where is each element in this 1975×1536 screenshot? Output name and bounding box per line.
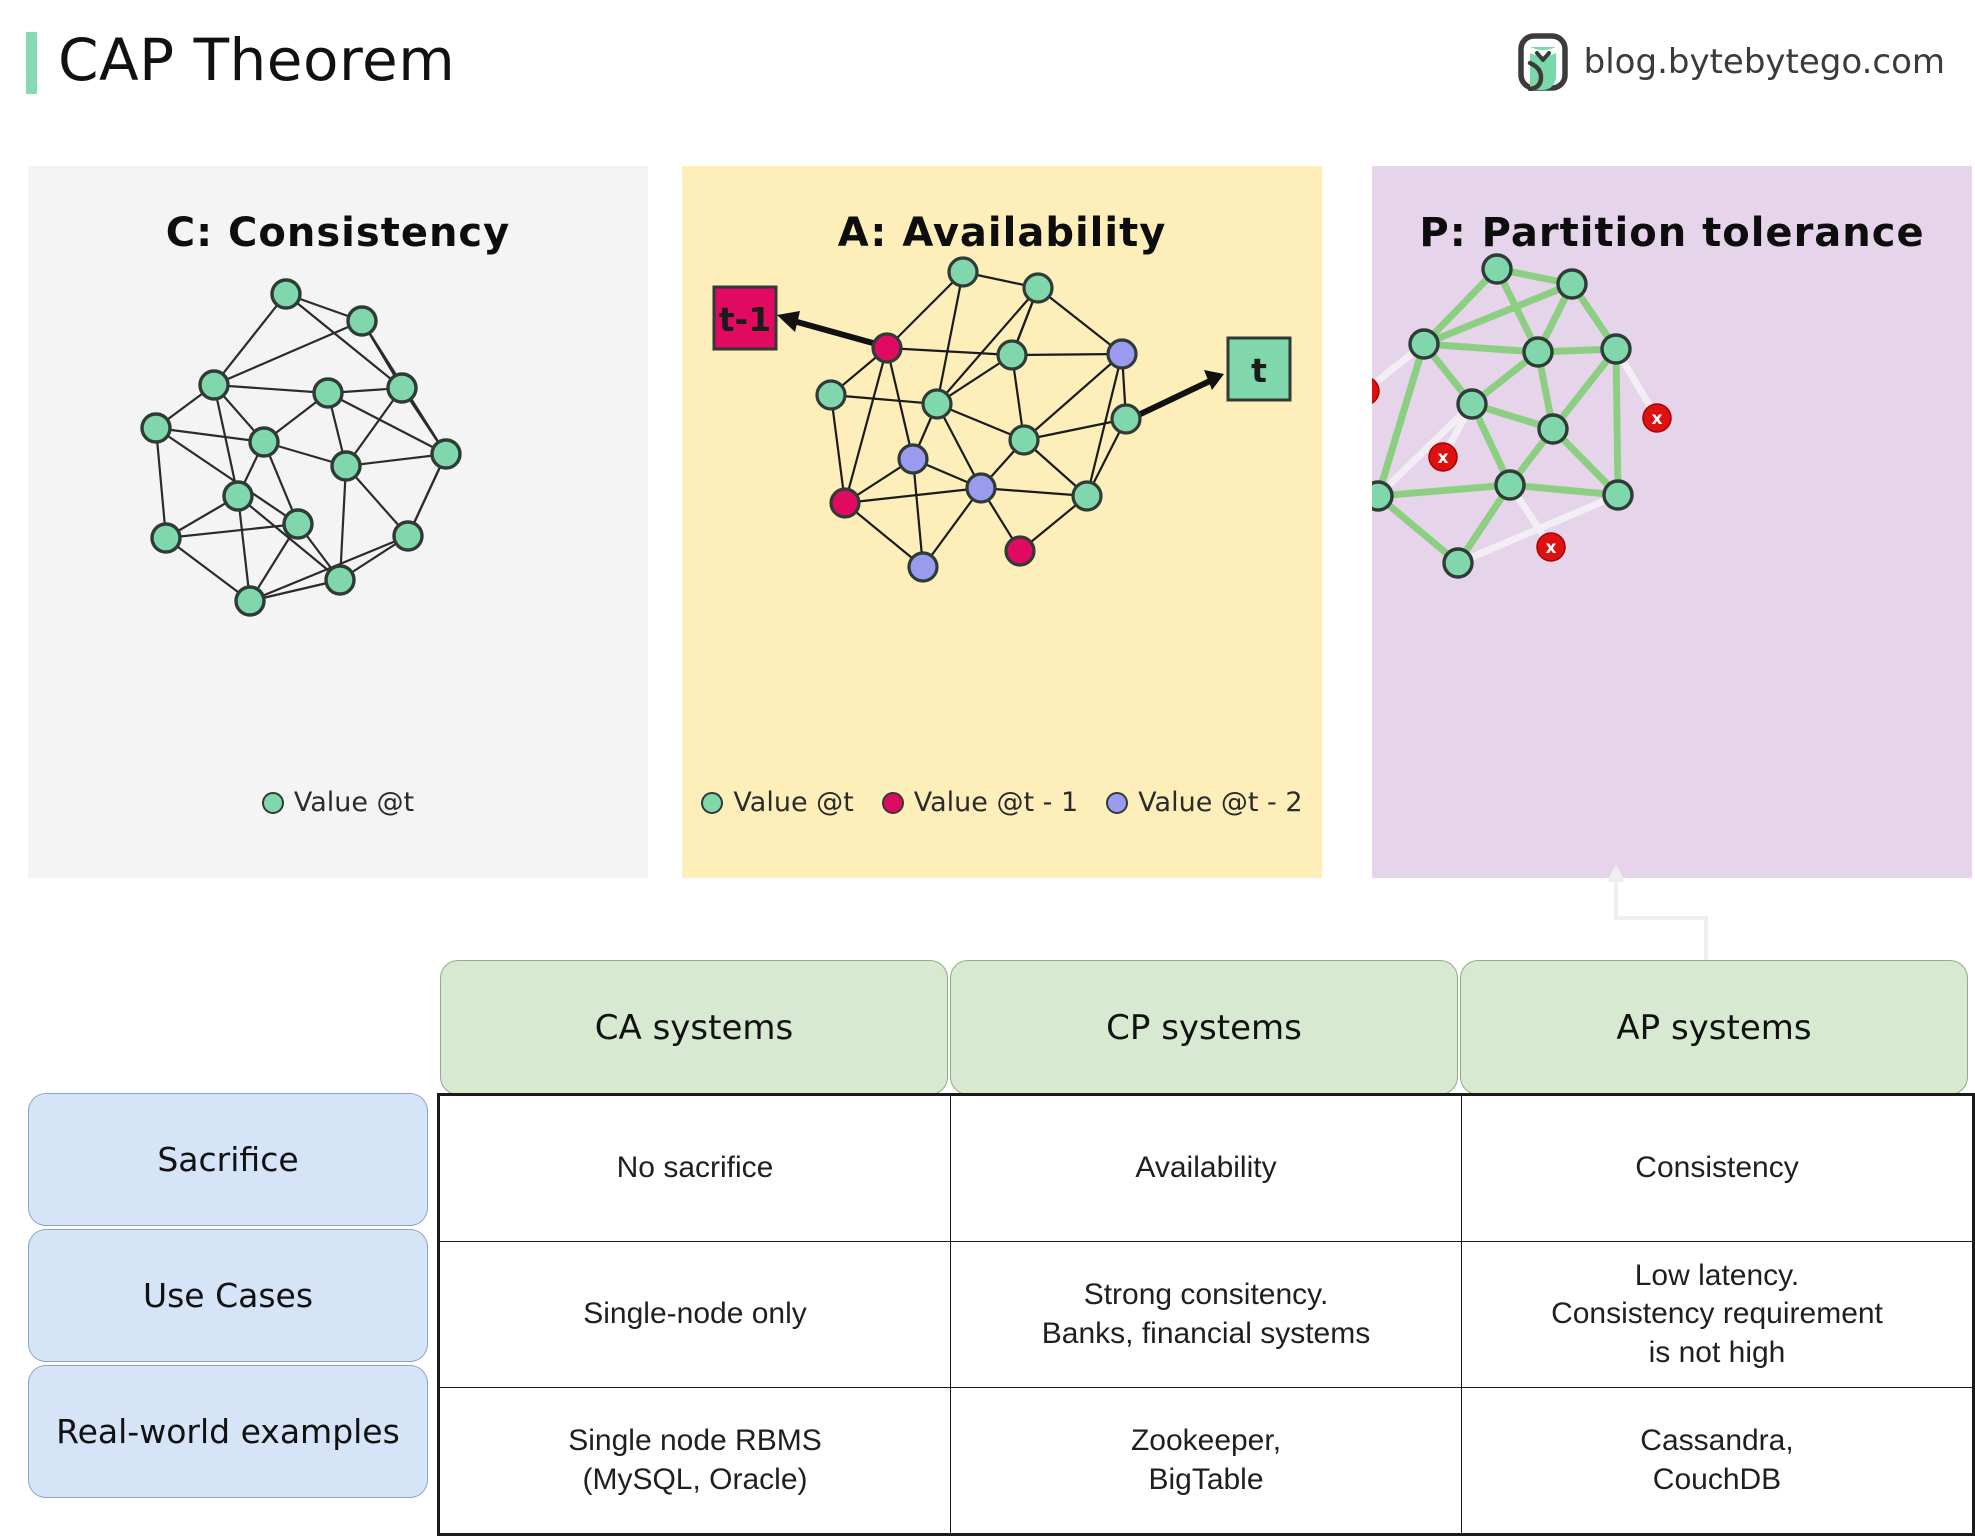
availability-network-graph: t-1t [682, 166, 1322, 878]
title-accent-bar [26, 32, 37, 94]
legend-label: Value @t - 1 [914, 787, 1078, 818]
table-column-headers: CA systems CP systems AP systems [440, 960, 1968, 1095]
brand[interactable]: blog.bytebytego.com [1518, 33, 1945, 91]
legend-label: Value @t [733, 787, 853, 818]
table-cell: No sacrifice [440, 1096, 951, 1242]
table-row: Single node RBMS(MySQL, Oracle) Zookeepe… [440, 1388, 1973, 1534]
legend-item: Value @t [262, 787, 414, 818]
legend-dot-value-at-t [701, 792, 723, 814]
legend-item: Value @t - 2 [1106, 787, 1302, 818]
table-grid: No sacrifice Availability Consistency Si… [437, 1093, 1975, 1536]
comparison-table: CA systems CP systems AP systems Sacrifi… [0, 940, 1975, 1460]
legend-item: Value @t - 1 [882, 787, 1078, 818]
partition-network-graph: xxxx [1372, 166, 1972, 878]
table-cell: Cassandra,CouchDB [1462, 1388, 1973, 1534]
column-header-cp-systems[interactable]: CP systems [950, 960, 1458, 1095]
row-label-real-world-examples[interactable]: Real-world examples [28, 1365, 428, 1498]
consistency-network-graph [28, 166, 648, 878]
table-row-labels: Sacrifice Use Cases Real-world examples [28, 1093, 428, 1498]
svg-text:t: t [1251, 351, 1267, 390]
fault-marker-icon: x [1537, 533, 1565, 561]
panel-consistency: C: Consistency Value @t [28, 166, 648, 878]
availability-legend: Value @t Value @t - 1 Value @t - 2 [682, 787, 1322, 818]
table-row: Single-node only Strong consitency.Banks… [440, 1242, 1973, 1388]
table-row: No sacrifice Availability Consistency [440, 1096, 1973, 1242]
cap-panels: C: Consistency Value @t A: Availability … [0, 166, 1975, 878]
table-cell: Strong consitency.Banks, financial syste… [951, 1242, 1462, 1388]
table-cell: Availability [951, 1096, 1462, 1242]
svg-text:x: x [1546, 538, 1557, 558]
page-header: CAP Theorem blog.bytebytego.com [0, 0, 1975, 118]
row-label-use-cases[interactable]: Use Cases [28, 1229, 428, 1362]
consistency-legend: Value @t [28, 787, 648, 818]
panel-availability: A: Availability t-1t Value @t Value @t -… [682, 166, 1322, 878]
table-cell: Zookeeper,BigTable [951, 1388, 1462, 1534]
legend-dot-value-at-t [262, 792, 284, 814]
brand-label: blog.bytebytego.com [1584, 42, 1945, 82]
panel-partition-tolerance: P: Partition tolerance xxxx [1372, 166, 1972, 878]
svg-text:x: x [1438, 448, 1449, 468]
bytebytego-logo-icon [1518, 33, 1568, 91]
legend-label: Value @t - 2 [1138, 787, 1302, 818]
fault-marker-icon: x [1429, 443, 1457, 471]
table-cell: Single-node only [440, 1242, 951, 1388]
table-cell: Single node RBMS(MySQL, Oracle) [440, 1388, 951, 1534]
svg-text:x: x [1652, 409, 1663, 429]
column-header-ap-systems[interactable]: AP systems [1460, 960, 1968, 1095]
fault-marker-icon: x [1643, 404, 1671, 432]
table-cell: Low latency.Consistency requirementis no… [1462, 1242, 1973, 1388]
legend-dot-value-at-t-minus-2 [1106, 792, 1128, 814]
svg-text:t-1: t-1 [719, 300, 771, 339]
legend-label: Value @t [294, 787, 414, 818]
row-label-sacrifice[interactable]: Sacrifice [28, 1093, 428, 1226]
legend-dot-value-at-t-minus-1 [882, 792, 904, 814]
page-title: CAP Theorem [58, 26, 455, 94]
table-cell: Consistency [1462, 1096, 1973, 1242]
legend-item: Value @t [701, 787, 853, 818]
column-header-ca-systems[interactable]: CA systems [440, 960, 948, 1095]
